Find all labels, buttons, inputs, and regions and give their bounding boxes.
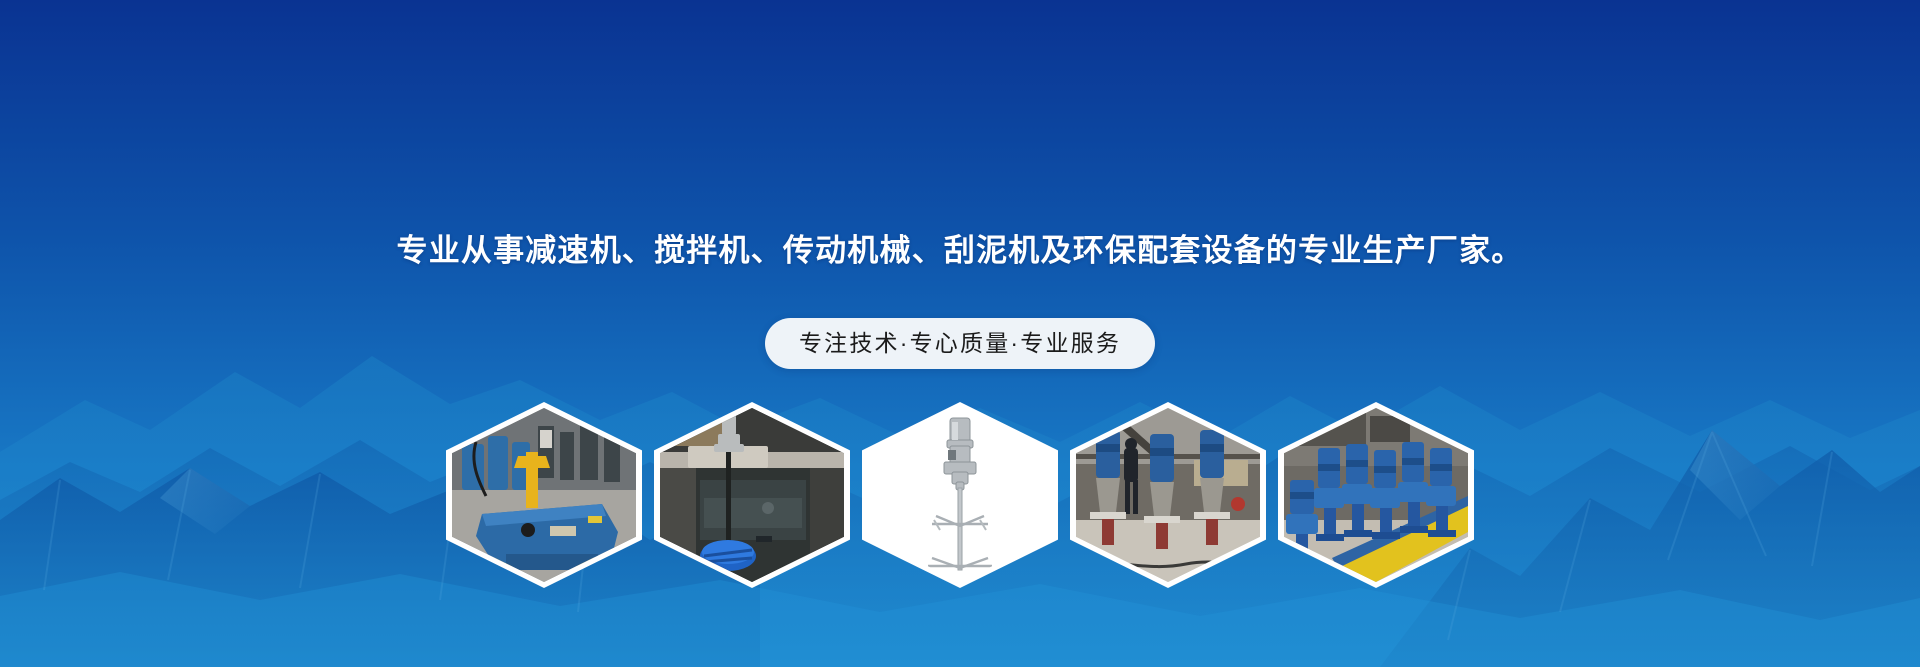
slogan-badge: 专注技术·专心质量·专业服务 [765,318,1155,369]
gallery-hexagon[interactable] [862,402,1058,588]
page-title: 专业从事减速机、搅拌机、传动机械、刮泥机及环保配套设备的专业生产厂家。 [0,232,1920,271]
gallery-hexagon[interactable] [1070,402,1266,588]
agitator-in-tank-photo [660,408,844,582]
gallery-hexagon[interactable] [446,402,642,588]
hexagon-gallery [0,402,1920,592]
reducer-row-photo [1284,408,1468,582]
vertical-mixer-units-photo [1076,408,1260,582]
vertical-mixer-product-photo [868,408,1052,582]
gallery-hexagon[interactable] [1278,402,1474,588]
gearbox-assembly-photo [452,408,636,582]
hero-banner: 专业从事减速机、搅拌机、传动机械、刮泥机及环保配套设备的专业生产厂家。 专注技术… [0,0,1920,667]
gallery-hexagon[interactable] [654,402,850,588]
slogan-container: 专注技术·专心质量·专业服务 [0,318,1920,369]
